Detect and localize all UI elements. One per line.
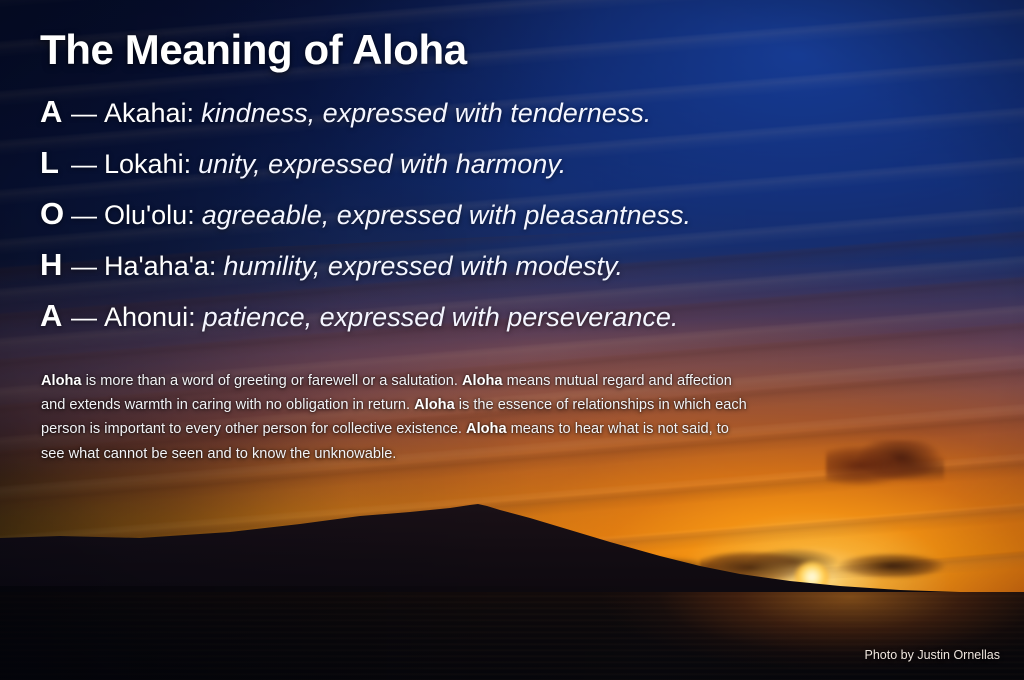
acronym-dash: — xyxy=(68,100,104,126)
acronym-definition: patience, expressed with perseverance. xyxy=(196,304,679,331)
acronym-letter: L xyxy=(40,147,68,178)
acronym-dash: — xyxy=(68,253,104,279)
photo-credit: Photo by Justin Ornellas xyxy=(865,648,1001,662)
acronym-definition: humility, expressed with modesty. xyxy=(216,253,623,280)
aloha-text-1: is more than a word of greeting or farew… xyxy=(82,373,462,389)
acronym-letter: A xyxy=(40,300,68,331)
acronym-word: Akahai: xyxy=(104,100,194,127)
poster-content: The Meaning of Aloha A — Akahai: kindnes… xyxy=(0,0,1024,680)
acronym-letter: H xyxy=(40,249,68,280)
acronym-word: Olu'olu: xyxy=(104,202,195,229)
acronym-dash: — xyxy=(68,151,104,177)
acronym-dash: — xyxy=(68,202,104,228)
aloha-bold-4: Aloha xyxy=(466,421,507,437)
list-item: O — Olu'olu: agreeable, expressed with p… xyxy=(40,198,920,249)
acronym-letter: O xyxy=(40,198,68,229)
list-item: L — Lokahi: unity, expressed with harmon… xyxy=(40,147,920,198)
acronym-letter: A xyxy=(40,96,68,127)
list-item: A — Akahai: kindness, expressed with ten… xyxy=(40,96,920,147)
acronym-word: Ahonui: xyxy=(104,304,196,331)
aloha-bold-1: Aloha xyxy=(41,373,82,389)
aloha-poster: The Meaning of Aloha A — Akahai: kindnes… xyxy=(0,0,1024,680)
acronym-definition: unity, expressed with harmony. xyxy=(191,151,566,178)
list-item: A — Ahonui: patience, expressed with per… xyxy=(40,300,920,351)
acronym-word: Lokahi: xyxy=(104,151,191,178)
acronym-dash: — xyxy=(68,304,104,330)
aloha-bold-3: Aloha xyxy=(414,397,455,413)
list-item: H — Ha'aha'a: humility, expressed with m… xyxy=(40,249,920,300)
acronym-definition: agreeable, expressed with pleasantness. xyxy=(195,202,691,229)
aloha-bold-2: Aloha xyxy=(462,373,503,389)
aloha-description-paragraph: Aloha is more than a word of greeting or… xyxy=(41,369,753,466)
aloha-acronym-list: A — Akahai: kindness, expressed with ten… xyxy=(40,96,920,351)
acronym-word: Ha'aha'a: xyxy=(104,253,216,280)
acronym-definition: kindness, expressed with tenderness. xyxy=(194,100,651,127)
page-title: The Meaning of Aloha xyxy=(40,26,467,74)
